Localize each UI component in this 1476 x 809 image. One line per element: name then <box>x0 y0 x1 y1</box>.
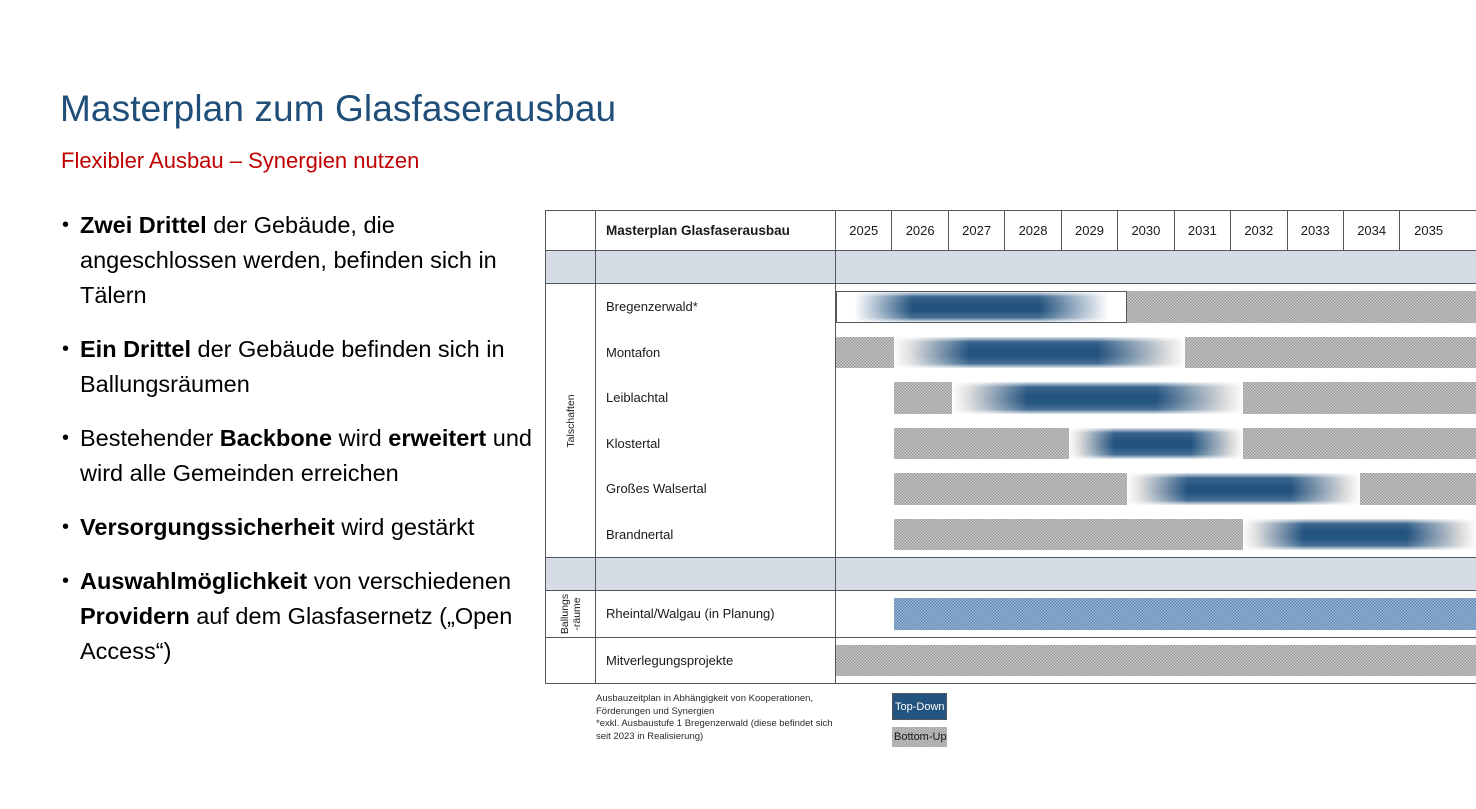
year-column-header: 2030 <box>1118 211 1174 250</box>
year-column-header: 2026 <box>892 211 948 250</box>
bullet-text: Ein Drittel der Gebäude befinden sich in… <box>80 332 532 402</box>
gantt-row-track <box>836 284 1476 330</box>
footnote: Ausbauzeitplan in Abhängigkeit von Koope… <box>596 693 896 743</box>
year-column-header: 2028 <box>1005 211 1061 250</box>
gantt-row: Leiblachtal <box>596 375 1476 421</box>
bullet-item: •Versorgungssicherheit wird gestärkt <box>62 510 532 545</box>
gantt-chart: Masterplan Glasfaserausbau 2025202620272… <box>545 210 1476 750</box>
gantt-row: Klostertal <box>596 421 1476 467</box>
gantt-row: Montafon <box>596 330 1476 376</box>
gantt-header-row: Masterplan Glasfaserausbau 2025202620272… <box>546 211 1476 251</box>
year-column-header: 2025 <box>836 211 892 250</box>
gantt-bar-top-down <box>1069 428 1244 460</box>
bullet-marker-icon: • <box>62 208 80 243</box>
section-header-track <box>836 251 1476 283</box>
gantt-row-label: Mitverlegungsprojekte <box>596 638 836 684</box>
section-header-label <box>596 558 836 590</box>
gantt-row-label: Montafon <box>596 330 836 376</box>
bullet-item: •Bestehender Backbone wird erweitert und… <box>62 421 532 491</box>
footnote-line: *exkl. Ausbaustufe 1 Bregenzerwald (dies… <box>596 718 896 731</box>
gantt-bar-top-down <box>1127 473 1360 505</box>
bullet-item: •Auswahlmöglichkeit von verschiedenen Pr… <box>62 564 532 669</box>
gantt-section-header <box>546 251 1476 284</box>
bullet-item: •Ein Drittel der Gebäude befinden sich i… <box>62 332 532 402</box>
page-subtitle: Flexibler Ausbau – Synergien nutzen <box>61 148 419 174</box>
legend-item-top-down: Top-Down <box>892 693 947 720</box>
year-column-header: 2033 <box>1288 211 1344 250</box>
gantt-row-label: Rheintal/Walgau (in Planung) <box>596 591 836 637</box>
gantt-row: Brandnertal <box>596 512 1476 558</box>
gantt-rows: Mitverlegungsprojekte <box>596 638 1476 684</box>
gantt-row-label: Großes Walsertal <box>596 466 836 512</box>
group-rotated-label: Ballungs-räume <box>546 591 596 637</box>
rotated-label-spacer <box>546 211 596 250</box>
gantt-row-track <box>836 421 1476 467</box>
group-rotated-label: Talschaften <box>546 284 596 557</box>
group-rotated-label-text: Talschaften <box>565 394 577 447</box>
gantt-bar-bottom-up <box>1127 291 1476 323</box>
gantt-group: TalschaftenBregenzerwald*MontafonLeiblac… <box>546 284 1476 558</box>
section-header-track <box>836 558 1476 590</box>
gantt-rows: Bregenzerwald*MontafonLeiblachtalKloster… <box>596 284 1476 557</box>
footnote-line: Förderungen und Synergien <box>596 706 896 719</box>
year-column-header: 2032 <box>1231 211 1287 250</box>
bullet-item: •Zwei Drittel der Gebäude, die angeschlo… <box>62 208 532 313</box>
gantt-group: Ballungs-räumeRheintal/Walgau (in Planun… <box>546 591 1476 638</box>
gantt-title-cell: Masterplan Glasfaserausbau <box>596 211 836 250</box>
year-column-header: 2034 <box>1344 211 1400 250</box>
bullet-marker-icon: • <box>62 564 80 599</box>
gantt-table: Masterplan Glasfaserausbau 2025202620272… <box>545 210 1476 684</box>
gantt-row-label: Brandnertal <box>596 512 836 558</box>
bullet-list: •Zwei Drittel der Gebäude, die angeschlo… <box>62 208 532 688</box>
gantt-row-track <box>836 638 1476 684</box>
year-axis: 2025202620272028202920302031203220332034… <box>836 211 1476 250</box>
gantt-footer: Ausbauzeitplan in Abhängigkeit von Koope… <box>545 693 1476 759</box>
gantt-row-track <box>836 375 1476 421</box>
year-column-header: 2035 <box>1400 211 1456 250</box>
gantt-row-label: Klostertal <box>596 421 836 467</box>
legend: Top-Down Bottom-Up <box>892 693 1012 747</box>
footnote-line: seit 2023 in Realisierung) <box>596 731 896 744</box>
rotated-label-spacer <box>546 558 596 590</box>
gantt-row-track <box>836 512 1476 558</box>
bullet-marker-icon: • <box>62 421 80 456</box>
gantt-row-label: Bregenzerwald* <box>596 284 836 330</box>
bullet-text: Auswahlmöglichkeit von verschiedenen Pro… <box>80 564 532 669</box>
group-rotated-label <box>546 638 596 684</box>
gantt-section-header <box>546 558 1476 591</box>
year-column-header: 2029 <box>1062 211 1118 250</box>
bullet-marker-icon: • <box>62 332 80 367</box>
gantt-bar-top-down <box>952 382 1243 414</box>
year-column-header: 2031 <box>1175 211 1231 250</box>
legend-item-bottom-up: Bottom-Up <box>892 727 947 747</box>
rotated-label-spacer <box>546 251 596 283</box>
section-header-label <box>596 251 836 283</box>
gantt-row-label: Leiblachtal <box>596 375 836 421</box>
page-title: Masterplan zum Glasfaserausbau <box>60 88 616 130</box>
gantt-bar-top-down <box>836 291 1127 323</box>
year-column-header: 2027 <box>949 211 1005 250</box>
group-rotated-label-text: Ballungs-räume <box>559 594 583 634</box>
bullet-marker-icon: • <box>62 510 80 545</box>
gantt-group: Mitverlegungsprojekte <box>546 638 1476 684</box>
gantt-row: Mitverlegungsprojekte <box>596 638 1476 684</box>
bullet-text: Versorgungssicherheit wird gestärkt <box>80 510 474 545</box>
gantt-row: Bregenzerwald* <box>596 284 1476 330</box>
gantt-row-track <box>836 466 1476 512</box>
gantt-row-track <box>836 591 1476 637</box>
gantt-row: Rheintal/Walgau (in Planung) <box>596 591 1476 637</box>
gantt-bar-ballungsraum <box>894 598 1476 630</box>
footnote-line: Ausbauzeitplan in Abhängigkeit von Koope… <box>596 693 896 706</box>
gantt-bar-bottom-up <box>836 645 1476 677</box>
gantt-row-track <box>836 330 1476 376</box>
gantt-bar-top-down <box>1243 519 1476 551</box>
gantt-row: Großes Walsertal <box>596 466 1476 512</box>
bullet-text: Zwei Drittel der Gebäude, die angeschlos… <box>80 208 532 313</box>
bullet-text: Bestehender Backbone wird erweitert und … <box>80 421 532 491</box>
gantt-bar-top-down <box>894 337 1185 369</box>
gantt-rows: Rheintal/Walgau (in Planung) <box>596 591 1476 637</box>
